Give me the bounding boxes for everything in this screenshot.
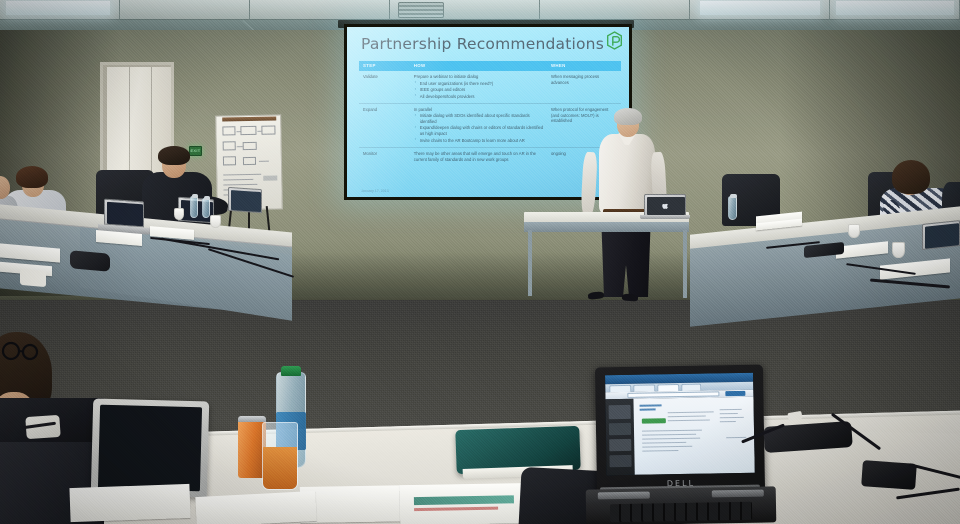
bullet: Invite chairs to the AR Bootcamp to lear… [420,138,547,144]
cell-how: There may be other areas that will emerg… [414,151,551,163]
slide-table: STEP HOW WHEN Validate Prepare a webinar… [359,61,621,166]
diagram-box [261,126,275,135]
teal-padfolio [455,426,580,474]
water-bottle [190,196,198,218]
sidebar-thumbnail[interactable] [609,423,631,435]
apple-logo [662,202,669,210]
sidebar-thumbnail[interactable] [609,405,631,419]
col-header-when: WHEN [551,63,617,69]
handout-header-bar [414,495,514,505]
how-bullets: End user organizations (is there need?) … [414,81,547,100]
attendee-laptop [104,199,144,228]
how-bullets: Initiate dialog with SDOs identified abo… [414,113,547,144]
paper-stack [69,484,190,522]
how-lead: Prepare a webinar to initiate dialog [414,74,547,80]
bottle-cap [281,366,301,376]
ceiling-light [700,1,820,15]
col-header-how: HOW [414,63,551,69]
diagram-box [243,142,257,150]
water-bottle [728,196,737,220]
presenter-hair [614,108,642,125]
browser-sidebar[interactable] [605,399,634,475]
sidebar-thumbnail[interactable] [609,455,631,467]
handout-line [414,507,498,511]
camera-bag [70,250,110,271]
how-lead: There may be other areas that will emerg… [414,151,547,163]
ceiling-tile [250,0,390,20]
cell-step: Monitor [363,151,414,163]
ceiling-light [6,1,110,15]
slide-table-row: Validate Prepare a webinar to initiate d… [359,71,621,103]
cell-when: When messaging process advances [551,74,617,99]
bullet: All developers/tools providers [420,94,547,100]
diagram-box [243,157,256,165]
conference-room-photo: EXIT Partnership Recommendations STEP HO… [0,0,960,524]
paper-stack [195,491,316,524]
diagram-box [223,141,236,150]
flipchart-clip [222,117,276,122]
soda-can-top [238,416,266,422]
diagram-box [223,156,236,165]
col-header-step: STEP [363,63,414,69]
slide-table-row: Monitor There may be other areas that wi… [359,148,621,166]
juice-glass [262,422,298,490]
ceiling-tile [540,0,690,20]
diagram-note [263,176,277,181]
foreground-laptop-left [91,398,209,497]
browser-go-button[interactable] [725,391,745,396]
diagram-box [222,126,235,135]
cell-step: Expand [363,107,414,144]
bullet: Initiate dialog with SDOs identified abo… [420,113,547,125]
juice-liquid [263,447,297,489]
foreground-dell-laptop[interactable]: DELL [595,365,765,496]
cell-how: Prepare a webinar to initiate dialog End… [414,74,551,99]
table-leg [683,230,687,298]
water-bottle [202,198,210,218]
coffee-cup [210,215,221,228]
laptop-keyboard[interactable] [610,502,752,522]
laptop-speaker-grille [598,492,650,500]
exit-sign-label: EXIT [190,147,201,155]
bullet: Expand/deepen dialog with chairs or edit… [420,125,547,137]
presenter-macbook [644,194,686,216]
laptop-speaker-grille [712,490,764,498]
ceiling-vent [398,2,444,18]
slide-title: Partnership Recommendations [361,35,611,53]
coffee-cup [848,224,860,238]
attendee-laptop [922,220,960,250]
slide-footer-date: January 17, 2013 [361,189,389,193]
dell-laptop-keyboard-base[interactable] [586,486,777,524]
presenter-macbook-base [640,215,690,219]
bullet: End user organizations (is there need?) [420,81,547,87]
coffee-cup [174,208,184,220]
sidebar-thumbnail[interactable] [609,439,631,451]
cell-step: Validate [363,74,414,99]
ceiling-tile [120,0,250,20]
presenter-shoe [622,293,638,301]
browser-page-content [633,397,754,475]
dell-laptop-screen[interactable] [605,373,755,476]
exit-sign: EXIT [189,146,202,156]
ceiling-light [836,1,954,15]
table-leg [528,230,532,296]
bullet: IEEE groups and editors [420,87,547,93]
diagram-box [240,126,256,135]
tissue-box [20,269,46,287]
coffee-cup [892,242,905,258]
highlighted-element [642,418,666,423]
slide-table-header-row: STEP HOW WHEN [359,61,621,71]
attendee-laptop [228,187,262,213]
how-lead: In parallel [414,107,547,113]
eyeglasses-icon [0,338,40,364]
presenter-table-skirt [524,222,689,232]
green-p-hexagon-logo [606,31,623,50]
cell-how: In parallel Initiate dialog with SDOs id… [414,107,551,144]
slide-table-row: Expand In parallel Initiate dialog with … [359,104,621,148]
